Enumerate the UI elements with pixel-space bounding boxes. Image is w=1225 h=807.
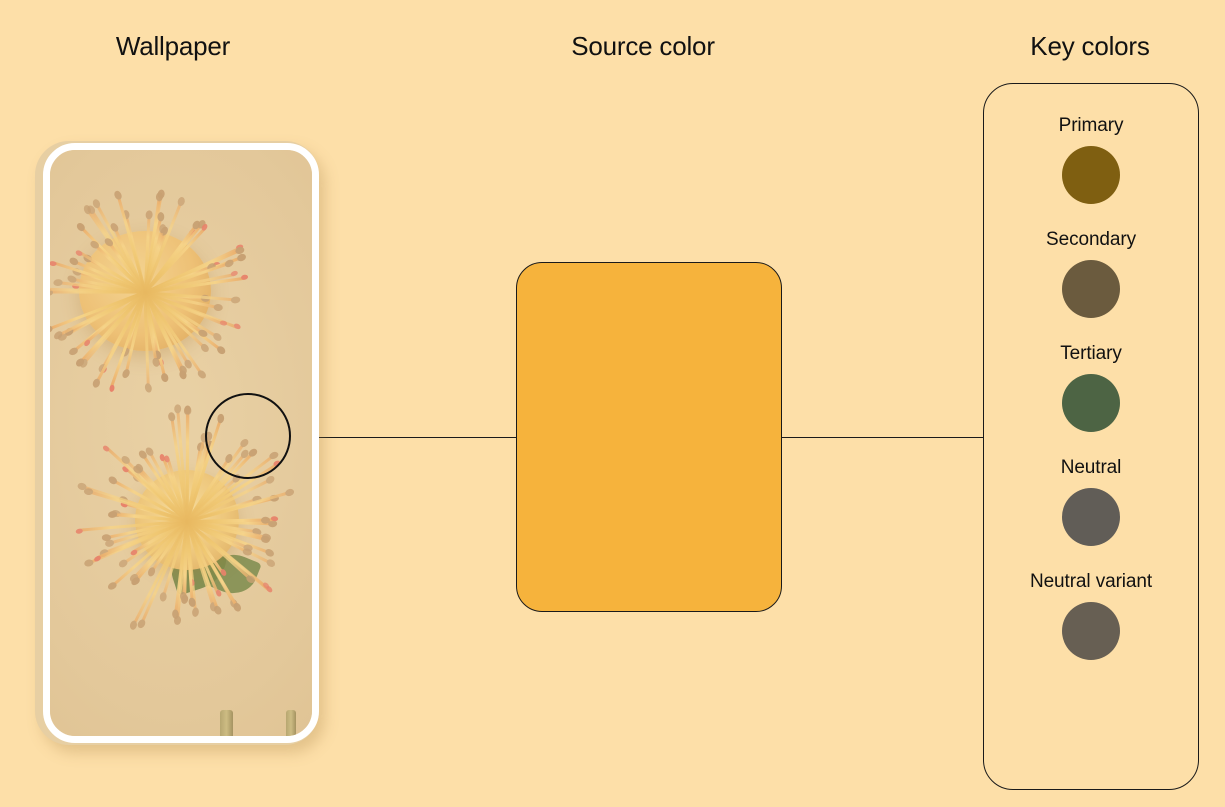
key-color-item-neutral[interactable]: Neutral [984, 457, 1198, 546]
key-color-label: Neutral [1061, 457, 1122, 479]
wallpaper-sample-circle-marker [205, 393, 291, 479]
key-color-item-primary[interactable]: Primary [984, 115, 1198, 204]
wallpaper-column-heading: Wallpaper [0, 31, 346, 62]
wallpaper-to-source-connector-line [291, 437, 517, 438]
key-color-label: Secondary [1046, 229, 1136, 251]
source-to-key-colors-connector-line [781, 437, 984, 438]
flower-bloom-lower [186, 519, 187, 520]
source-color-column-heading: Source color [470, 31, 816, 62]
flower-bloom-upper [144, 291, 145, 292]
key-color-label: Tertiary [1060, 343, 1122, 365]
key-color-item-neutral-variant[interactable]: Neutral variant [984, 571, 1198, 660]
key-color-swatch-neutral[interactable] [1062, 488, 1120, 546]
key-color-label: Primary [1059, 115, 1124, 137]
source-color-swatch-card[interactable] [516, 262, 782, 612]
key-color-item-secondary[interactable]: Secondary [984, 229, 1198, 318]
key-color-swatch-secondary[interactable] [1062, 260, 1120, 318]
flower-stem [220, 710, 233, 736]
key-color-item-tertiary[interactable]: Tertiary [984, 343, 1198, 432]
key-color-swatch-primary[interactable] [1062, 146, 1120, 204]
key-color-swatch-tertiary[interactable] [1062, 374, 1120, 432]
key-color-swatch-neutral-variant[interactable] [1062, 602, 1120, 660]
key-colors-column-heading: Key colors [965, 31, 1215, 62]
flower-stem [286, 710, 296, 736]
key-colors-panel: Primary Secondary Tertiary Neutral Neutr… [983, 83, 1199, 790]
diagram-stage: Wallpaper Source color Key colors Primar… [0, 0, 1225, 807]
key-color-label: Neutral variant [1030, 571, 1152, 593]
